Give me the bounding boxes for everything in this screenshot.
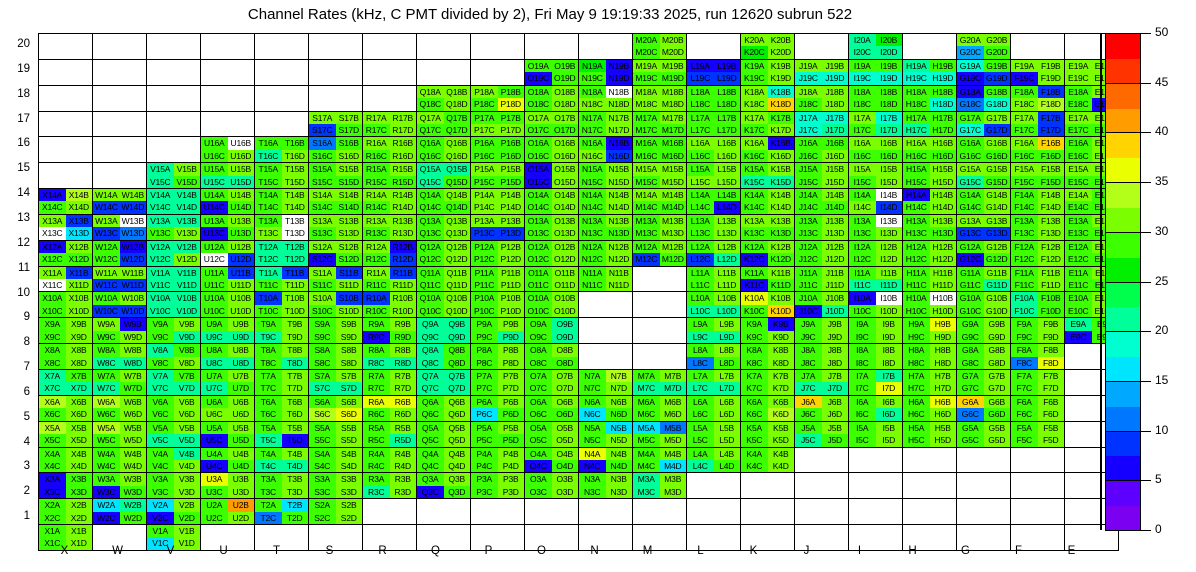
channel-K17D: K17D <box>768 124 795 136</box>
grid-cell-X2: X2AX2BX2CX2D <box>39 499 93 525</box>
channel-R13A: R13A <box>363 215 390 227</box>
channel-W14C: W14C <box>93 201 120 213</box>
grid-cell-P14: P14AP14BP14CP14D <box>471 189 525 215</box>
channel-T10C: T10C <box>255 305 282 317</box>
table-row: V15AV15BV15CV15DU15AU15BU15CU15DT15AT15B… <box>39 163 1119 189</box>
channel-O18A: O18A <box>525 86 552 98</box>
channel-E9C: E9C <box>1065 331 1092 343</box>
grid-cell-F5: F5AF5BF5CF5D <box>1011 421 1065 447</box>
channel-N5C: N5C <box>579 434 606 446</box>
channel-I7B: I7B <box>876 370 903 382</box>
channel-F9A: F9A <box>1011 318 1038 330</box>
grid-cell-S3: S3AS3BS3CS3D <box>309 473 363 499</box>
grid-cell-I10: I10AI10BI10CI10D <box>849 292 903 318</box>
channel-M15D: M15D <box>660 176 687 188</box>
channel-T12D: T12D <box>282 253 309 265</box>
colorbar-tick-label-50: 50 <box>1155 25 1168 39</box>
table-row: X8AX8BX8CX8DW8AW8BW8CW8DV8AV8BV8CV8DU8AU… <box>39 344 1119 370</box>
channel-H5D: H5D <box>930 434 957 446</box>
channel-G5A: G5A <box>957 422 984 434</box>
x-axis-label-H: H <box>886 545 939 557</box>
channel-N11D: N11D <box>606 279 633 291</box>
channel-H14D: H14D <box>930 201 957 213</box>
channel-W9A: W9A <box>93 318 120 330</box>
channel-H13A: H13A <box>903 215 930 227</box>
channel-N13D: N13D <box>606 227 633 239</box>
grid-cell-P9: P9AP9BP9CP9D <box>471 318 525 344</box>
grid-cell-empty <box>471 34 525 60</box>
channel-K5B: K5B <box>768 422 795 434</box>
channel-S2B: S2B <box>336 499 363 511</box>
channel-M3B: M3B <box>660 473 687 485</box>
channel-P7D: P7D <box>498 382 525 394</box>
channel-J11A: J11A <box>795 267 822 279</box>
channel-J14B: J14B <box>822 189 849 201</box>
channel-I13D: I13D <box>876 227 903 239</box>
channel-L7D: L7D <box>714 382 741 394</box>
channel-G11C: G11C <box>957 279 984 291</box>
channel-R6D: R6D <box>390 408 417 420</box>
grid-cell-empty <box>417 499 471 525</box>
channel-U8D: U8D <box>228 357 255 369</box>
channel-F10B: F10B <box>1038 292 1065 304</box>
channel-O6A: O6A <box>525 396 552 408</box>
grid-cell-K17: K17AK17BK17CK17D <box>741 111 795 137</box>
channel-K8D: K8D <box>768 357 795 369</box>
channel-F13C: F13C <box>1011 227 1038 239</box>
channel-W11B: W11B <box>120 267 147 279</box>
grid-cell-K14: K14AK14BK14CK14D <box>741 189 795 215</box>
grid-cell-empty <box>633 266 687 292</box>
channel-I11C: I11C <box>849 279 876 291</box>
channel-U3B: U3B <box>228 473 255 485</box>
channel-S11B: S11B <box>336 267 363 279</box>
channel-S9D: S9D <box>336 331 363 343</box>
channel-T9C: T9C <box>255 331 282 343</box>
grid-cell-N19: N19AN19BN19CN19D <box>579 59 633 85</box>
channel-I13C: I13C <box>849 227 876 239</box>
channel-N19B: N19B <box>606 60 633 72</box>
channel-S17B: S17B <box>336 112 363 124</box>
channel-V4C: V4C <box>147 460 174 472</box>
channel-N3C: N3C <box>579 486 606 498</box>
channel-J9C: J9C <box>795 331 822 343</box>
channel-R11A: R11A <box>363 267 390 279</box>
x-axis-label-V: V <box>144 545 197 557</box>
channel-P15C: P15C <box>471 176 498 188</box>
grid-cell-P13: P13AP13BP13CP13D <box>471 214 525 240</box>
channel-Q10B: Q10B <box>444 292 471 304</box>
channel-Q4C: Q4C <box>417 460 444 472</box>
channel-M12A: M12A <box>633 241 660 253</box>
channel-J19A: J19A <box>795 60 822 72</box>
grid-cell-L14: L14AL14BL14CL14D <box>687 189 741 215</box>
channel-S2A: S2A <box>309 499 336 511</box>
channel-U5B: U5B <box>228 422 255 434</box>
colorbar-tick-label-30: 30 <box>1155 224 1168 238</box>
channel-P17A: P17A <box>471 112 498 124</box>
grid-cell-I15: I15AI15BI15CI15D <box>849 163 903 189</box>
channel-U16B: U16B <box>228 137 255 149</box>
channel-P13B: P13B <box>498 215 525 227</box>
grid-cell-P4: P4AP4BP4CP4D <box>471 447 525 473</box>
channel-L17A: L17A <box>687 112 714 124</box>
channel-U12A: U12A <box>201 241 228 253</box>
channel-O14A: O14A <box>525 189 552 201</box>
channel-T11D: T11D <box>282 279 309 291</box>
channel-O4A: O4A <box>525 448 552 460</box>
channel-J7C: J7C <box>795 382 822 394</box>
channel-J7D: J7D <box>822 382 849 394</box>
channel-G17D: G17D <box>984 124 1011 136</box>
channel-Q14C: Q14C <box>417 201 444 213</box>
grid-cell-F17: F17AF17BF17CF17D <box>1011 111 1065 137</box>
channel-P6B: P6B <box>498 396 525 408</box>
grid-cell-U5: U5AU5BU5CU5D <box>201 421 255 447</box>
channel-K11B: K11B <box>768 267 795 279</box>
channel-I14A: I14A <box>849 189 876 201</box>
grid-cell-G12: G12AG12BG12CG12D <box>957 240 1011 266</box>
grid-cell-H15: H15AH15BH15CH15D <box>903 163 957 189</box>
channel-N14C: N14C <box>579 201 606 213</box>
grid-cell-W3: W3AW3BW3CW3D <box>93 473 147 499</box>
channel-X11A: X11A <box>39 267 66 279</box>
channel-R5B: R5B <box>390 422 417 434</box>
channel-N19A: N19A <box>579 60 606 72</box>
grid-cell-L4: L4AL4BL4CL4D <box>687 447 741 473</box>
grid-cell-R6: R6AR6BR6CR6D <box>363 395 417 421</box>
channel-K9A: K9A <box>741 318 768 330</box>
grid-cell-I13: I13AI13BI13CI13D <box>849 214 903 240</box>
channel-V7B: V7B <box>174 370 201 382</box>
channel-P6D: P6D <box>498 408 525 420</box>
grid-cell-W12: W12AW12BW12CW12D <box>93 240 147 266</box>
channel-R6C: R6C <box>363 408 390 420</box>
channel-P14B: P14B <box>498 189 525 201</box>
channel-K14C: K14C <box>741 201 768 213</box>
channel-F7B: F7B <box>1038 370 1065 382</box>
channel-L10D: L10D <box>714 305 741 317</box>
channel-J10D: J10D <box>822 305 849 317</box>
channel-R12C: R12C <box>363 253 390 265</box>
channel-W10D: W10D <box>120 305 147 317</box>
channel-H16C: H16C <box>903 150 930 162</box>
channel-N18B: N18B <box>606 86 633 98</box>
channel-M5C: M5C <box>633 434 660 446</box>
grid-cell-K12: K12AK12BK12CK12D <box>741 240 795 266</box>
channel-G8B: G8B <box>984 344 1011 356</box>
grid-cell-I19: I19AI19BI19CI19D <box>849 59 903 85</box>
channel-L7C: L7C <box>687 382 714 394</box>
colorbar-tick-label-40: 40 <box>1155 124 1168 138</box>
colorbar-tick-label-10: 10 <box>1155 423 1168 437</box>
channel-G16C: G16C <box>957 150 984 162</box>
channel-P18C: P18C <box>471 98 498 110</box>
channel-V15D: V15D <box>174 176 201 188</box>
channel-W9B: W9B <box>120 318 147 330</box>
grid-cell-empty <box>201 59 255 85</box>
channel-X2D: X2D <box>66 512 93 524</box>
channel-T16D: T16D <box>282 150 309 162</box>
grid-cell-U11: U11AU11BU11CU11D <box>201 266 255 292</box>
channel-K4C: K4C <box>741 460 768 472</box>
grid-cell-empty <box>795 473 849 499</box>
grid-cell-T2: T2AT2BT2CT2D <box>255 499 309 525</box>
channel-M4C: M4C <box>633 460 660 472</box>
channel-U14C: U14C <box>201 201 228 213</box>
channel-U11A: U11A <box>201 267 228 279</box>
channel-H10D: H10D <box>930 305 957 317</box>
grid-cell-W5: W5AW5BW5CW5D <box>93 421 147 447</box>
table-row: X5AX5BX5CX5DW5AW5BW5CW5DV5AV5BV5CV5DU5AU… <box>39 421 1119 447</box>
channel-F11C: F11C <box>1011 279 1038 291</box>
grid-cell-V5: V5AV5BV5CV5D <box>147 421 201 447</box>
grid-cell-H18: H18AH18BH18CH18D <box>903 85 957 111</box>
channel-I16D: I16D <box>876 150 903 162</box>
channel-P3A: P3A <box>471 473 498 485</box>
channel-N12B: N12B <box>606 241 633 253</box>
channel-P14A: P14A <box>471 189 498 201</box>
colorbar-band-11 <box>1106 233 1140 258</box>
grid-cell-F7: F7AF7BF7CF7D <box>1011 369 1065 395</box>
channel-M5A: M5A <box>633 422 660 434</box>
grid-cell-empty <box>795 499 849 525</box>
channel-J13A: J13A <box>795 215 822 227</box>
channel-J5C: J5C <box>795 434 822 446</box>
channel-M15B: M15B <box>660 163 687 175</box>
channel-N16B: N16B <box>606 137 633 149</box>
grid-cell-P16: P16AP16BP16CP16D <box>471 137 525 163</box>
channel-F13D: F13D <box>1038 227 1065 239</box>
x-axis-label-Q: Q <box>409 545 462 557</box>
channel-M7D: M7D <box>660 382 687 394</box>
grid-cell-G14: G14AG14BG14CG14D <box>957 189 1011 215</box>
channel-U4C: U4C <box>201 460 228 472</box>
channel-R4C: R4C <box>363 460 390 472</box>
channel-L6C: L6C <box>687 408 714 420</box>
channel-T7C: T7C <box>255 382 282 394</box>
channel-T13C: T13C <box>255 227 282 239</box>
channel-Q12A: Q12A <box>417 241 444 253</box>
grid-cell-X14: X14AX14BX14CX14D <box>39 189 93 215</box>
grid-cell-P11: P11AP11BP11CP11D <box>471 266 525 292</box>
channel-T6B: T6B <box>282 396 309 408</box>
channel-F11A: F11A <box>1011 267 1038 279</box>
x-axis-label-G: G <box>939 545 992 557</box>
channel-U7A: U7A <box>201 370 228 382</box>
grid-cell-L19: L19AL19BL19CL19D <box>687 59 741 85</box>
channel-M3A: M3A <box>633 473 660 485</box>
grid-cell-T8: T8AT8BT8CT8D <box>255 344 309 370</box>
channel-T8B: T8B <box>282 344 309 356</box>
channel-Q18A: Q18A <box>417 86 444 98</box>
grid-cell-G9: G9AG9BG9CG9D <box>957 318 1011 344</box>
channel-U13C: U13C <box>201 227 228 239</box>
channel-Q5B: Q5B <box>444 422 471 434</box>
channel-O5A: O5A <box>525 422 552 434</box>
channel-X4C: X4C <box>39 460 66 472</box>
channel-L7B: L7B <box>714 370 741 382</box>
channel-U10B: U10B <box>228 292 255 304</box>
channel-J11C: J11C <box>795 279 822 291</box>
grid-cell-empty <box>741 499 795 525</box>
channel-O9A: O9A <box>525 318 552 330</box>
grid-cell-X4: X4AX4BX4CX4D <box>39 447 93 473</box>
channel-R14D: R14D <box>390 201 417 213</box>
grid-cell-G13: G13AG13BG13CG13D <box>957 214 1011 240</box>
grid-cell-P10: P10AP10BP10CP10D <box>471 292 525 318</box>
x-axis-label-P: P <box>462 545 515 557</box>
grid-cell-R10: R10AR10BR10CR10D <box>363 292 417 318</box>
channel-W2D: W2D <box>120 512 147 524</box>
channel-K10C: K10C <box>741 305 768 317</box>
channel-P10B: P10B <box>498 292 525 304</box>
channel-S8C: S8C <box>309 357 336 369</box>
channel-K19A: K19A <box>741 60 768 72</box>
channel-P12D: P12D <box>498 253 525 265</box>
channel-L4C: L4C <box>687 460 714 472</box>
grid-cell-K20: K20AK20BK20CK20D <box>741 34 795 60</box>
channel-I14D: I14D <box>876 201 903 213</box>
grid-cell-J6: J6AJ6BJ6CJ6D <box>795 395 849 421</box>
channel-L18C: L18C <box>687 98 714 110</box>
channel-W4C: W4C <box>93 460 120 472</box>
channel-W4A: W4A <box>93 448 120 460</box>
channel-U7C: U7C <box>201 382 228 394</box>
channel-X12B: X12B <box>66 241 93 253</box>
grid-cell-H11: H11AH11BH11CH11D <box>903 266 957 292</box>
grid-cell-empty <box>579 292 633 318</box>
channel-I9B: I9B <box>876 318 903 330</box>
grid-cell-L5: L5AL5BL5CL5D <box>687 421 741 447</box>
grid-cell-R7: R7AR7BR7CR7D <box>363 369 417 395</box>
colorbar-tick-35 <box>1105 182 1151 183</box>
channel-X10D: X10D <box>66 305 93 317</box>
x-axis-label-N: N <box>568 545 621 557</box>
channel-W13C: W13C <box>93 227 120 239</box>
grid-cell-O18: O18AO18BO18CO18D <box>525 85 579 111</box>
grid-cell-I16: I16AI16BI16CI16D <box>849 137 903 163</box>
channel-J8A: J8A <box>795 344 822 356</box>
channel-U3A: U3A <box>201 473 228 485</box>
channel-Q10D: Q10D <box>444 305 471 317</box>
channel-E19A: E19A <box>1065 60 1092 72</box>
channel-X5B: X5B <box>66 422 93 434</box>
grid-cell-empty <box>903 447 957 473</box>
channel-F15C: F15C <box>1011 176 1038 188</box>
colorbar-band-19 <box>1106 34 1140 59</box>
channel-V2D: V2D <box>174 512 201 524</box>
grid-cell-empty <box>471 59 525 85</box>
x-axis-label-M: M <box>621 545 674 557</box>
table-row: X4AX4BX4CX4DW4AW4BW4CW4DV4AV4BV4CV4DU4AU… <box>39 447 1119 473</box>
grid-cell-K15: K15AK15BK15CK15D <box>741 163 795 189</box>
channel-T7A: T7A <box>255 370 282 382</box>
channel-X10B: X10B <box>66 292 93 304</box>
channel-L13B: L13B <box>714 215 741 227</box>
grid-cell-empty <box>1011 34 1065 60</box>
channel-T9A: T9A <box>255 318 282 330</box>
channel-I9C: I9C <box>849 331 876 343</box>
channel-F18A: F18A <box>1011 86 1038 98</box>
channel-R3A: R3A <box>363 473 390 485</box>
channel-L16C: L16C <box>687 150 714 162</box>
grid-cell-N3: N3AN3BN3CN3D <box>579 473 633 499</box>
channel-X7A: X7A <box>39 370 66 382</box>
channel-H15D: H15D <box>930 176 957 188</box>
channel-U16D: U16D <box>228 150 255 162</box>
channel-I5C: I5C <box>849 434 876 446</box>
channel-R16D: R16D <box>390 150 417 162</box>
channel-I11D: I11D <box>876 279 903 291</box>
channel-H10A: H10A <box>903 292 930 304</box>
channel-J13C: J13C <box>795 227 822 239</box>
grid-cell-I12: I12AI12BI12CI12D <box>849 240 903 266</box>
grid-cell-L12: L12AL12BL12CL12D <box>687 240 741 266</box>
channel-P18A: P18A <box>471 86 498 98</box>
grid-cell-M17: M17AM17BM17CM17D <box>633 111 687 137</box>
channel-O12C: O12C <box>525 253 552 265</box>
channel-T15B: T15B <box>282 163 309 175</box>
grid-cell-F6: F6AF6BF6CF6D <box>1011 395 1065 421</box>
channel-Q9D: Q9D <box>444 331 471 343</box>
grid-cell-empty <box>795 447 849 473</box>
channel-F19B: F19B <box>1038 60 1065 72</box>
channel-O6D: O6D <box>552 408 579 420</box>
y-axis-label-13: 13 <box>2 212 30 224</box>
channel-W3C: W3C <box>93 486 120 498</box>
channel-F18C: F18C <box>1011 98 1038 110</box>
channel-Q9C: Q9C <box>417 331 444 343</box>
channel-P18B: P18B <box>498 86 525 98</box>
channel-K12B: K12B <box>768 241 795 253</box>
channel-O5B: O5B <box>552 422 579 434</box>
grid-cell-H7: H7AH7BH7CH7D <box>903 369 957 395</box>
channel-N3A: N3A <box>579 473 606 485</box>
channel-I13B: I13B <box>876 215 903 227</box>
channel-V12D: V12D <box>174 253 201 265</box>
grid-cell-empty <box>147 137 201 163</box>
channel-S7A: S7A <box>309 370 336 382</box>
channel-S15C: S15C <box>309 176 336 188</box>
channel-O4B: O4B <box>552 448 579 460</box>
colorbar-tick-label-5: 5 <box>1155 472 1162 486</box>
channel-Q9A: Q9A <box>417 318 444 330</box>
channel-T12A: T12A <box>255 241 282 253</box>
channel-K14B: K14B <box>768 189 795 201</box>
grid-cell-empty <box>633 292 687 318</box>
channel-J6B: J6B <box>822 396 849 408</box>
grid-cell-empty <box>39 34 93 60</box>
channel-R15A: R15A <box>363 163 390 175</box>
channel-F11B: F11B <box>1038 267 1065 279</box>
channel-W5D: W5D <box>120 434 147 446</box>
channel-K20B: K20B <box>768 34 795 46</box>
channel-Q16A: Q16A <box>417 137 444 149</box>
grid-cell-F15: F15AF15BF15CF15D <box>1011 163 1065 189</box>
channel-W6D: W6D <box>120 408 147 420</box>
channel-F15A: F15A <box>1011 163 1038 175</box>
channel-W2A: W2A <box>93 499 120 511</box>
channel-N3B: N3B <box>606 473 633 485</box>
grid-cell-empty <box>633 499 687 525</box>
channel-U15C: U15C <box>201 176 228 188</box>
channel-H19A: H19A <box>903 60 930 72</box>
channel-I18D: I18D <box>876 98 903 110</box>
channel-G6B: G6B <box>984 396 1011 408</box>
channel-N18A: N18A <box>579 86 606 98</box>
channel-K9D: K9D <box>768 331 795 343</box>
